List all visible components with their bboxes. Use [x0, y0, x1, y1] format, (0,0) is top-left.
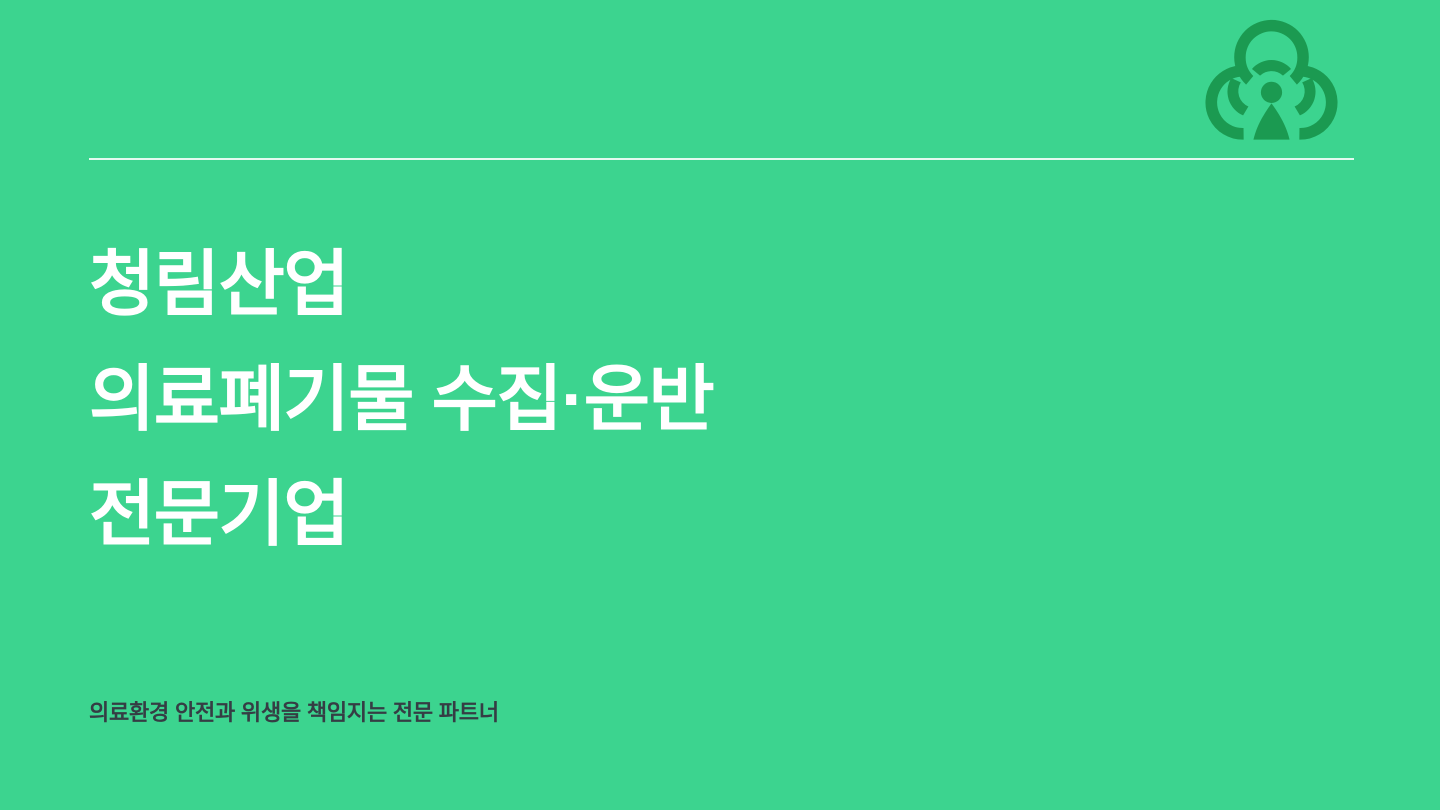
page-title: 청림산업 의료폐기물 수집·운반 전문기업: [89, 228, 1289, 573]
headline-line-3: 전문기업: [89, 458, 1289, 573]
header-divider: [89, 158, 1354, 160]
biohazard-icon: [1199, 17, 1344, 149]
headline-line-2: 의료폐기물 수집·운반: [89, 343, 1289, 458]
headline-line-1: 청림산업: [89, 228, 1289, 343]
tagline: 의료환경 안전과 위생을 책임지는 전문 파트너: [89, 698, 499, 728]
title-slide: 청림산업 의료폐기물 수집·운반 전문기업 의료환경 안전과 위생을 책임지는 …: [0, 0, 1440, 810]
